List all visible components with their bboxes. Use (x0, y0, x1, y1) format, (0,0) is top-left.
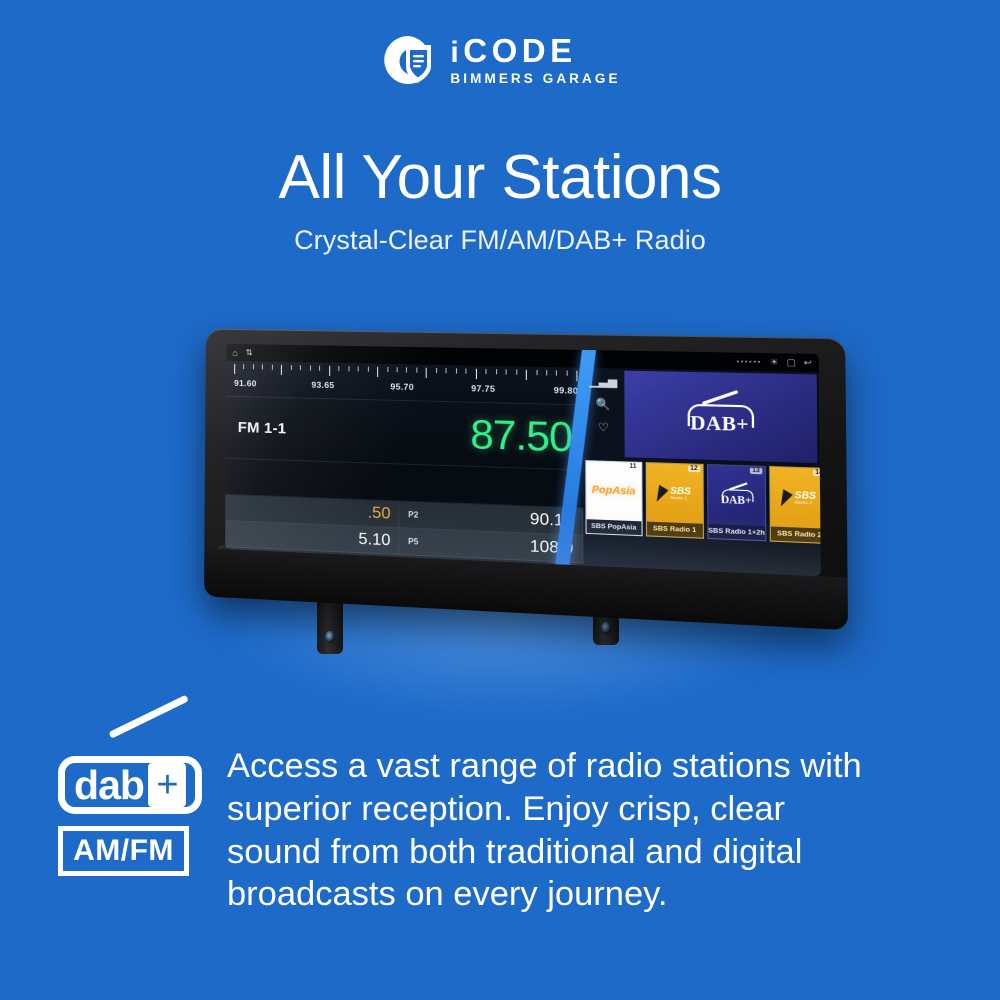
amfm-badge: AM/FM (58, 826, 189, 876)
preset-value: .50 (368, 504, 391, 523)
preset-tag: P5 (408, 537, 418, 547)
popasia-wordmark-icon: PopAsia (586, 461, 641, 521)
icode-shield-g-icon (379, 33, 437, 87)
station-number: 14 (813, 470, 821, 477)
station-tile[interactable]: 14 SBSRadio 2 SBS Radio 2 (769, 466, 821, 544)
favorite-heart-icon[interactable]: ♡ (598, 423, 609, 435)
brand-logo: iCODE BIMMERS GARAGE (0, 33, 1000, 87)
dab-word: dab (74, 762, 144, 809)
dab-plus-logo-icon: dab + (58, 736, 202, 814)
footer-badges: dab + AM/FM (58, 736, 208, 876)
station-number: 11 (627, 464, 638, 471)
fm-radio-pane: 91.60 93.65 95.70 97.75 99.80 FM 1-1 87.… (225, 361, 583, 566)
fm-frequency-display: 87.50 (470, 414, 572, 459)
station-tile[interactable]: 13 DAB+ SBS Radio 1+2h (707, 464, 766, 541)
fm-band-label: FM 1-1 (238, 419, 287, 437)
car-head-unit-device: ⌂ ⇅ ▪▪▪▪▪▪ ☀ ▢ ↩ (175, 320, 835, 680)
dab-logo-text: DAB+ (679, 412, 760, 438)
feature-description: Access a vast range of radio stations wi… (227, 745, 887, 916)
station-number: 13 (750, 468, 762, 475)
sbs-logo-icon: SBSRadio 2 (770, 467, 821, 529)
dial-tick-label: 93.65 (311, 380, 334, 391)
dab-tool-column: ▁▃▅ 🔍 ♡ (583, 368, 625, 460)
sbs-logo-icon: SBSRadio 1 (646, 463, 702, 524)
dab-antenna (702, 390, 739, 405)
dab-current-station-art: DAB+ (624, 371, 817, 464)
station-art-text: DAB+ (717, 494, 756, 507)
page-title: All Your Stations (0, 142, 1000, 213)
radio-screen: ⌂ ⇅ ▪▪▪▪▪▪ ☀ ▢ ↩ (225, 344, 821, 577)
dial-tick-label: 97.75 (471, 383, 495, 394)
home-icon[interactable]: ⌂ (232, 347, 237, 357)
brand-name-i: i (450, 36, 463, 69)
station-tile[interactable]: 12 SBSRadio 1 SBS Radio 1 (645, 462, 703, 539)
dab-antenna (108, 695, 188, 739)
device-display: ⌂ ⇅ ▪▪▪▪▪▪ ☀ ▢ ↩ (225, 344, 821, 577)
dab-plus-logo-icon: DAB+ (679, 394, 760, 439)
dab-plus-logo-icon: DAB+ (708, 465, 765, 526)
signal-dots-icon: ▪▪▪▪▪▪ (736, 358, 761, 365)
station-art-text: PopAsia (592, 485, 636, 498)
preset-value: 5.10 (358, 530, 390, 550)
page-subtitle: Crystal-Clear FM/AM/DAB+ Radio (0, 225, 1000, 256)
station-art-text: SBSRadio 1 (670, 487, 691, 501)
sbs-bolt-shape (781, 489, 794, 507)
up-down-arrows-icon[interactable]: ⇅ (246, 348, 253, 357)
brand-tagline: BIMMERS GARAGE (450, 71, 620, 86)
dab-logo-text: dab + (58, 756, 202, 814)
station-label: SBS Radio 1+2h (708, 524, 765, 540)
brand-name: iCODE (450, 34, 576, 69)
dial-tick-label: 95.70 (390, 381, 414, 392)
device-bezel: ⌂ ⇅ ▪▪▪▪▪▪ ☀ ▢ ↩ (204, 329, 848, 631)
dab-radio-pane: ▁▃▅ 🔍 ♡ DAB+ (583, 368, 821, 577)
station-label: SBS PopAsia (586, 519, 641, 535)
dial-tick-label: 91.60 (234, 378, 257, 389)
fm-now-playing: FM 1-1 87.50 (226, 397, 583, 471)
dab-plus-symbol: + (148, 763, 186, 807)
station-label: SBS Radio 1 (647, 522, 703, 538)
preset-tag: P2 (408, 510, 418, 520)
station-art-text: SBSRadio 2 (795, 491, 816, 505)
brightness-icon[interactable]: ☀ (770, 358, 779, 367)
screenshot-icon[interactable]: ▢ (786, 358, 795, 367)
dab-station-list: 11 PopAsia SBS PopAsia 12 SBSR (583, 460, 821, 544)
back-arrow-icon[interactable]: ↩ (804, 358, 812, 367)
sbs-bolt-shape (657, 484, 669, 501)
dial-tick-label: 99.80 (554, 385, 579, 396)
signal-bars-icon: ▁▃▅ (589, 376, 617, 388)
station-label: SBS Radio 2 (771, 526, 821, 542)
station-number: 12 (688, 466, 700, 473)
station-tile[interactable]: 11 PopAsia SBS PopAsia (585, 460, 642, 536)
search-icon[interactable]: 🔍 (596, 399, 611, 411)
dab-header-zone: ▁▃▅ 🔍 ♡ DAB+ (583, 368, 820, 466)
brand-name-rest: CODE (463, 32, 576, 69)
